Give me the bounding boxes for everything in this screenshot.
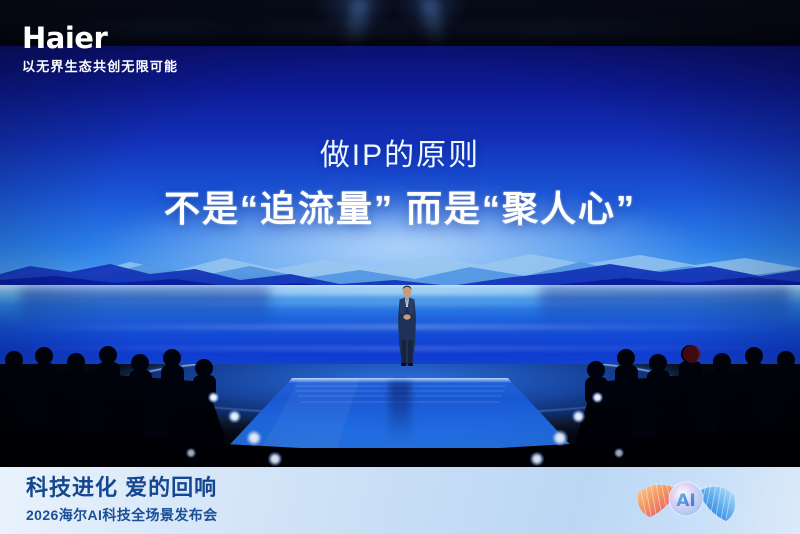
stage-spotlight (572, 410, 585, 423)
ai-emblem-logo: AI (628, 471, 748, 531)
headline-subtitle: 做IP的原则 (0, 138, 800, 173)
haier-slogan: 以无界生态共创无限可能 (22, 60, 178, 73)
event-stage-photo: 做IP的原则 不是“追流量” 而是“聚人心” Haier 以无界生态共创无限可能 (0, 0, 800, 534)
bottom-banner: 科技进化 爱的回响 2026海尔AI科技全场景发布会 (0, 467, 800, 534)
headline-block: 做IP的原则 不是“追流量” 而是“聚人心” (0, 138, 800, 231)
stage-spotlight (228, 410, 241, 423)
stage-floor (0, 364, 800, 470)
stage-spotlight (552, 430, 568, 446)
stage-spotlight (530, 452, 544, 466)
stage-spotlight (208, 392, 219, 403)
haier-logo-block: Haier 以无界生态共创无限可能 (22, 24, 178, 73)
stage-spotlight (246, 430, 262, 446)
stage-spotlight (592, 392, 603, 403)
ai-emblem-text: AI (676, 491, 695, 511)
presenter-figure (394, 284, 420, 366)
headline-main: 不是“追流量” 而是“聚人心” (0, 187, 800, 230)
stage-spotlight (614, 448, 624, 458)
haier-wordmark: Haier (22, 24, 178, 53)
banner-title: 科技进化 爱的回响 (26, 477, 217, 499)
stage-spotlight (268, 452, 282, 466)
presenter-reflection (389, 382, 411, 442)
stage-spotlight (186, 448, 196, 458)
banner-subtitle: 2026海尔AI科技全场景发布会 (26, 508, 218, 522)
